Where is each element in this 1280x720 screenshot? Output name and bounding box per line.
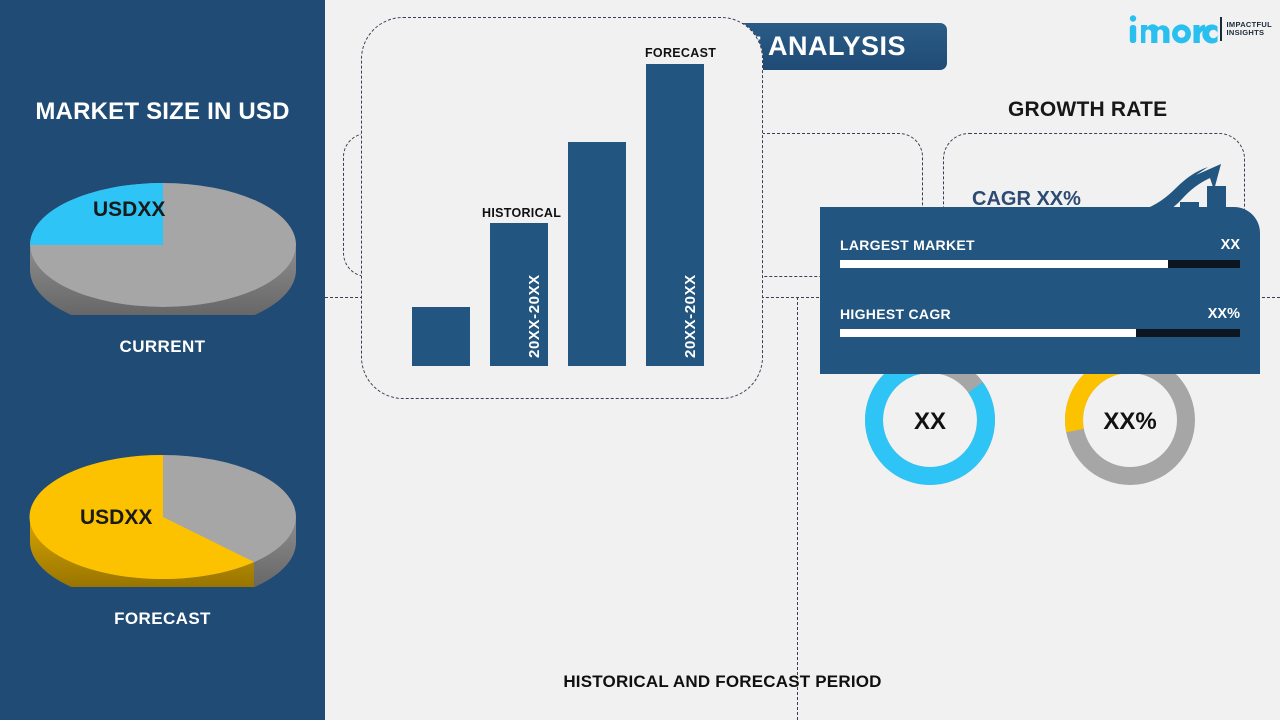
stat-label: HIGHEST CAGR <box>840 306 951 322</box>
stat-progress-track[interactable] <box>840 329 1240 337</box>
donut-2-center-label: XX% <box>1103 408 1156 435</box>
pie-current-value-label: USDXX <box>93 198 165 221</box>
bar-2-annotation: HISTORICAL <box>482 206 561 220</box>
pie-current-label: CURRENT <box>0 337 325 357</box>
bar-4-annotation: FORECAST <box>645 46 716 60</box>
pie-forecast-label: FORECAST <box>0 609 325 629</box>
brand-logo: IMPACTFUL INSIGHTS <box>1126 10 1272 48</box>
stat-progress-fill <box>840 260 1168 268</box>
historical-forecast-chart: 20XX-20XX HISTORICAL 20XX-20XX FORECAST <box>361 17 763 399</box>
main-panel: SEGMENT ANALYSIS IMPACTFUL INSIGHTS BREA… <box>325 0 1280 720</box>
imarc-wordmark-icon <box>1126 14 1218 44</box>
stat-value: XX% <box>1208 306 1240 322</box>
infographic-canvas: MARKET SIZE IN USD USDXX CURRENT <box>0 0 1280 720</box>
chart-caption: HISTORICAL AND FORECAST PERIOD <box>325 672 1120 692</box>
stat-label: LARGEST MARKET <box>840 237 975 253</box>
stat-progress-fill <box>840 329 1136 337</box>
bar-1[interactable] <box>412 307 470 366</box>
stat-progress-track[interactable] <box>840 260 1240 268</box>
sidebar-market-size: MARKET SIZE IN USD USDXX CURRENT <box>0 0 325 720</box>
stats-panel: LARGEST MARKET XX HIGHEST CAGR XX% <box>820 207 1260 374</box>
growth-rate-heading: GROWTH RATE <box>1008 98 1167 122</box>
logo-tagline-line2: INSIGHTS <box>1227 29 1272 37</box>
logo-tagline: IMPACTFUL INSIGHTS <box>1227 21 1272 37</box>
pie-forecast-svg: USDXX <box>18 432 308 587</box>
bar-chart-plot: 20XX-20XX HISTORICAL 20XX-20XX FORECAST <box>362 18 762 398</box>
stat-row-largest-market: LARGEST MARKET XX <box>840 237 1240 255</box>
pie-current: USDXX CURRENT <box>0 160 325 357</box>
logo-divider <box>1220 17 1222 41</box>
pie-forecast: USDXX FORECAST <box>0 432 325 629</box>
bar-3[interactable] <box>568 142 626 366</box>
pie-forecast-value-label: USDXX <box>80 506 152 529</box>
donut-1-center-label: XX <box>914 408 946 435</box>
sidebar-title: MARKET SIZE IN USD <box>0 98 325 126</box>
stat-value: XX <box>1221 237 1240 253</box>
bar-2-label: 20XX-20XX <box>526 274 543 358</box>
pie-current-svg: USDXX <box>18 160 308 315</box>
divider-vertical <box>797 297 798 720</box>
stat-row-highest-cagr: HIGHEST CAGR XX% <box>840 306 1240 324</box>
bar-4-label: 20XX-20XX <box>682 274 699 358</box>
